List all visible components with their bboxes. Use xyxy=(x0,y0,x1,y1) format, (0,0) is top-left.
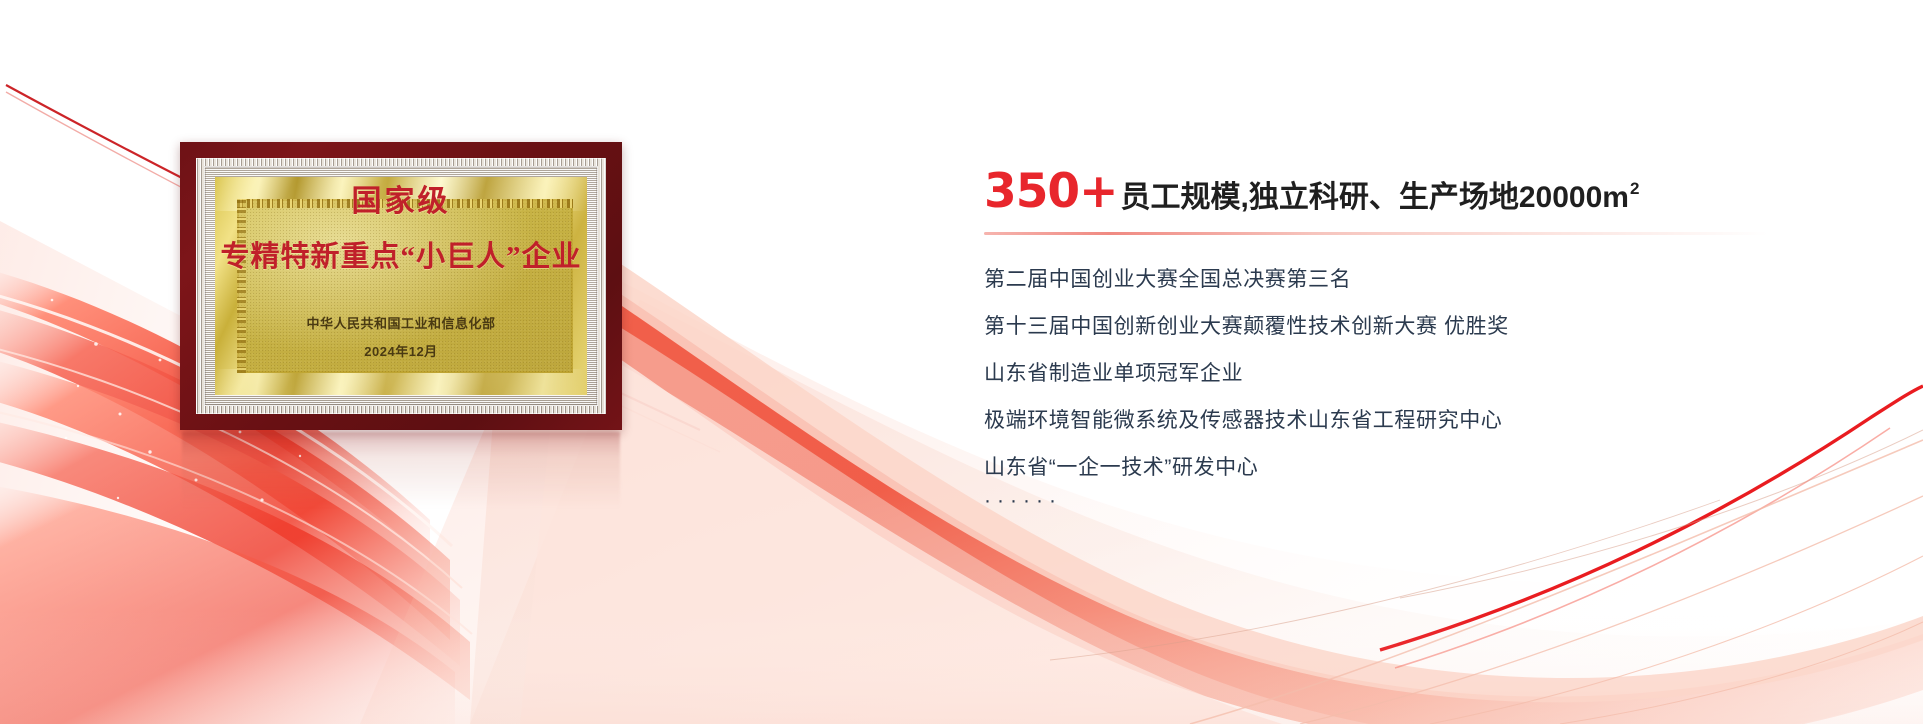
headline-text: 员工规模,独立科研、生产场地20000m xyxy=(1121,183,1629,213)
list-item: 第十三届中国创新创业大赛颠覆性技术创新大赛 优胜奖 xyxy=(984,316,1744,337)
headline-divider xyxy=(984,232,1768,235)
list-item: 山东省制造业单项冠军企业 xyxy=(984,363,1744,384)
list-item: 极端环境智能微系统及传感器技术山东省工程研究中心 xyxy=(984,410,1744,431)
credential-list-ellipsis: ······ xyxy=(984,490,1744,511)
plaque-date: 2024年12月 xyxy=(364,341,437,360)
info-column: 350+ 员工规模,独立科研、生产场地20000m 2 第二届中国创业大赛全国总… xyxy=(984,168,1744,511)
plaque-text-block: 国家级 专精特新重点“小巨人”企业 中华人民共和国工业和信息化部 2024年12… xyxy=(180,142,622,430)
plaque-title-line-2: 专精特新重点“小巨人”企业 xyxy=(220,233,581,275)
headline-number: 350+ xyxy=(984,168,1118,215)
banner-stage: 国家级 专精特新重点“小巨人”企业 中华人民共和国工业和信息化部 2024年12… xyxy=(0,0,1923,724)
plaque-reflection xyxy=(182,432,620,522)
plaque-title-line-1: 国家级 xyxy=(352,184,451,220)
plaque-issuer: 中华人民共和国工业和信息化部 xyxy=(306,313,495,332)
list-item: 第二届中国创业大赛全国总决赛第三名 xyxy=(984,269,1744,290)
list-item: 山东省“一企一技术”研发中心 xyxy=(984,457,1744,478)
headline-superscript: 2 xyxy=(1630,179,1639,199)
credential-list: 第二届中国创业大赛全国总决赛第三名 第十三届中国创新创业大赛颠覆性技术创新大赛 … xyxy=(984,269,1744,478)
headline: 350+ 员工规模,独立科研、生产场地20000m 2 xyxy=(984,168,1744,215)
award-plaque: 国家级 专精特新重点“小巨人”企业 中华人民共和国工业和信息化部 2024年12… xyxy=(180,142,622,430)
